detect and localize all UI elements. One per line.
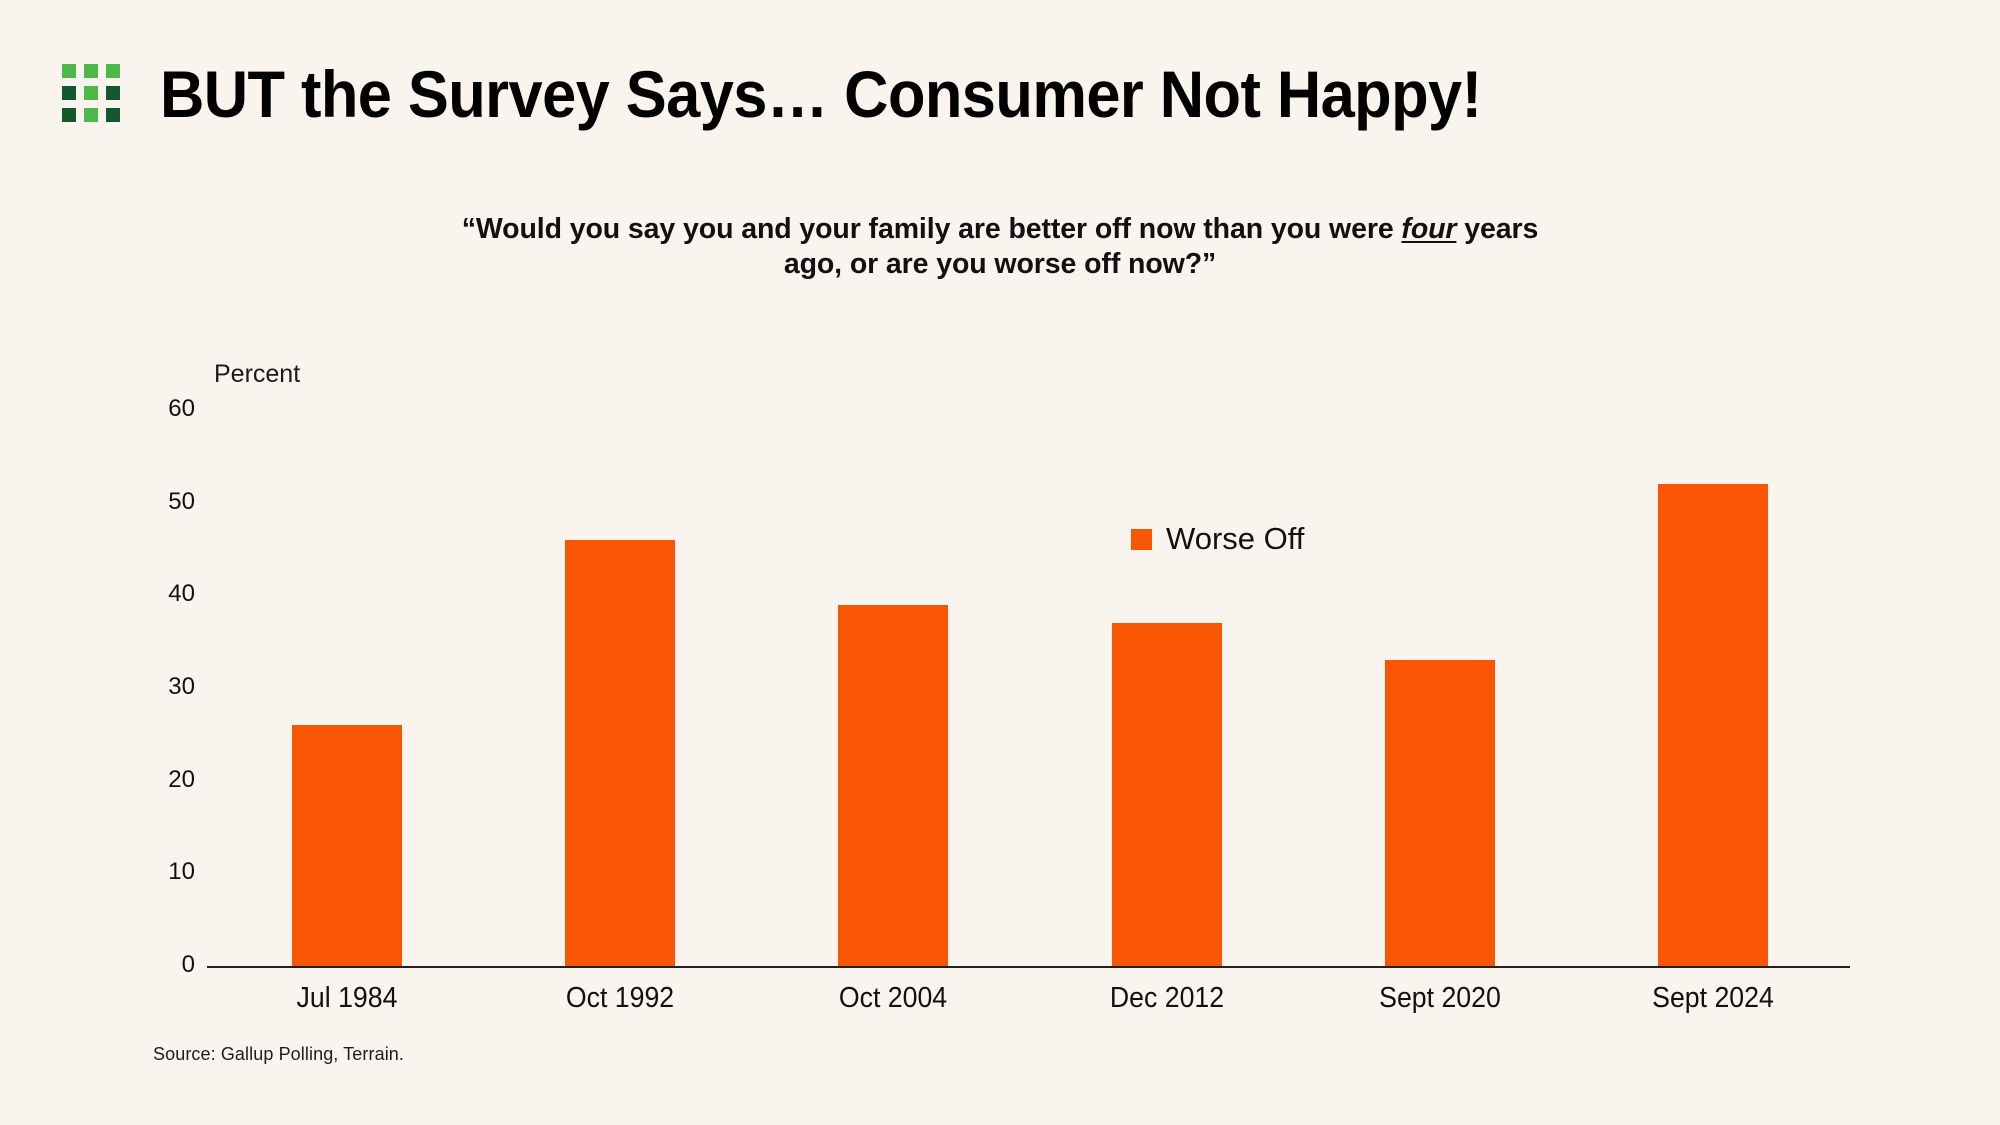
source-note: Source: Gallup Polling, Terrain. [153,1044,404,1065]
y-axis-tick-30: 30 [135,673,195,701]
y-axis-tick-10: 10 [135,858,195,886]
legend-label-worse-off: Worse Off [1166,521,1304,557]
x-axis-tick-oct-2004: Oct 2004 [765,982,1023,1015]
chart-legend: Worse Off [1131,521,1304,557]
x-axis-tick-sept-2020: Sept 2020 [1311,982,1569,1015]
bar-chart: Percent 0102030405060 Jul 1984Oct 1992Oc… [0,0,2000,1125]
bar-jul-1984[interactable] [292,725,402,966]
x-axis-tick-dec-2012: Dec 2012 [1038,982,1296,1015]
x-axis-tick-jul-1984: Jul 1984 [218,982,476,1015]
bar-sept-2024[interactable] [1658,484,1768,966]
bar-sept-2020[interactable] [1385,660,1495,966]
bar-oct-2004[interactable] [838,605,948,966]
plot-area [210,398,1850,966]
bar-dec-2012[interactable] [1112,623,1222,966]
y-axis-title: Percent [214,360,300,389]
x-axis-tick-sept-2024: Sept 2024 [1585,982,1843,1015]
x-axis-line [207,966,1850,968]
y-axis-tick-50: 50 [135,488,195,516]
y-axis-tick-40: 40 [135,580,195,608]
y-axis-tick-20: 20 [135,766,195,794]
y-axis-tick-0: 0 [135,951,195,979]
legend-swatch-worse-off [1131,529,1152,550]
x-axis-tick-oct-1992: Oct 1992 [491,982,749,1015]
bar-oct-1992[interactable] [565,540,675,966]
y-axis-tick-60: 60 [135,395,195,423]
